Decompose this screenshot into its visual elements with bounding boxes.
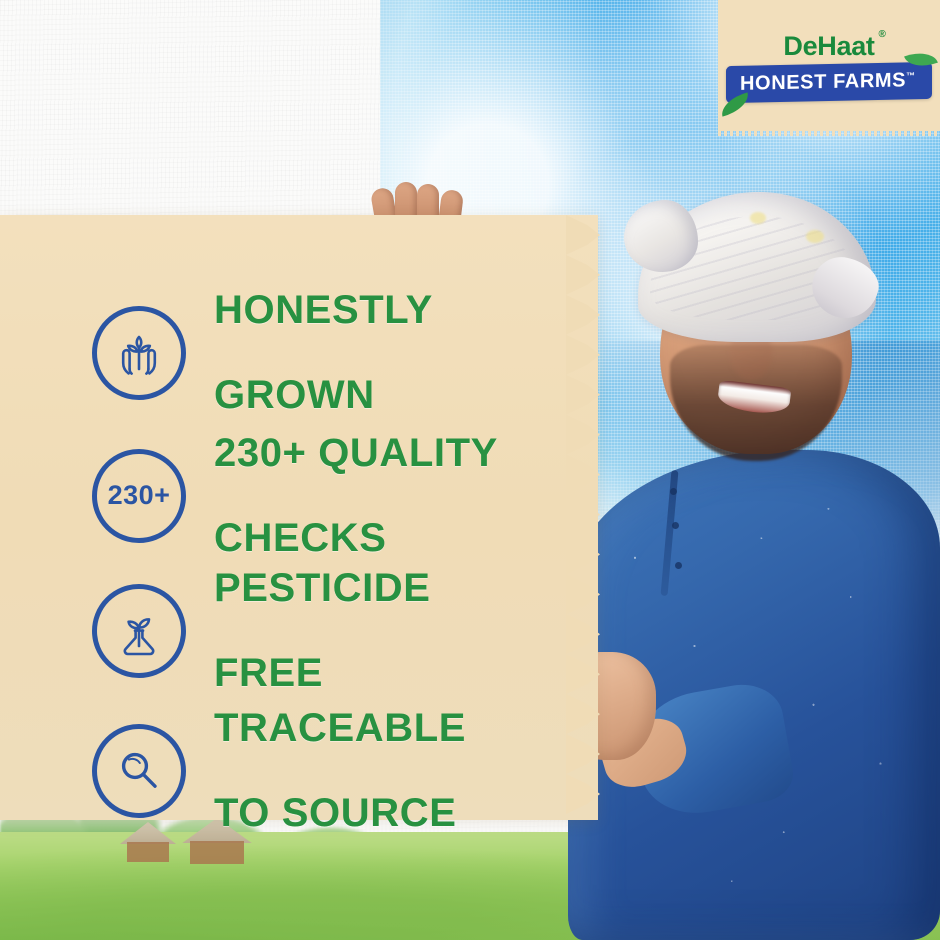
trademark-icon: ™ xyxy=(906,70,916,80)
feature-line-1: PESTICIDE xyxy=(214,567,431,609)
magnifying-glass-icon xyxy=(92,724,186,818)
turban-accent xyxy=(750,212,766,224)
hands-holding-plant-icon xyxy=(92,306,186,400)
registered-trademark-icon: ® xyxy=(879,29,886,40)
brand-logo-badge[interactable]: DeHaat® HONEST FARMS™ xyxy=(718,0,940,131)
feature-line-1: TRACEABLE xyxy=(214,707,466,749)
turban-accent xyxy=(806,230,824,243)
brand-name-dehaat: DeHaat® xyxy=(783,31,874,62)
kurta-button xyxy=(672,522,679,529)
feature-traceable-to-source[interactable]: TRACEABLE TO SOURCE xyxy=(92,665,466,877)
feature-label: TRACEABLE TO SOURCE xyxy=(214,665,466,877)
turban-knot xyxy=(624,200,698,272)
kurta-button xyxy=(670,488,677,495)
kurta-button xyxy=(675,562,682,569)
brand-sub-banner: HONEST FARMS™ xyxy=(726,61,932,102)
brand-sub-text: HONEST FARMS xyxy=(740,69,906,94)
brand-name-text: DeHaat xyxy=(783,31,874,61)
leaf-icon xyxy=(719,92,752,116)
leaf-icon xyxy=(904,46,938,72)
poster-canvas: HONESTLY GROWN 230+ 230+ QUALITY CHECKS xyxy=(0,0,940,940)
quality-check-count: 230+ xyxy=(108,480,171,511)
feature-line-2: TO SOURCE xyxy=(214,792,466,834)
feature-line-1: HONESTLY xyxy=(214,289,433,331)
flask-with-sprout-icon xyxy=(92,584,186,678)
feature-line-1: 230+ QUALITY xyxy=(214,432,498,474)
feature-list: HONESTLY GROWN 230+ 230+ QUALITY CHECKS xyxy=(0,215,598,820)
